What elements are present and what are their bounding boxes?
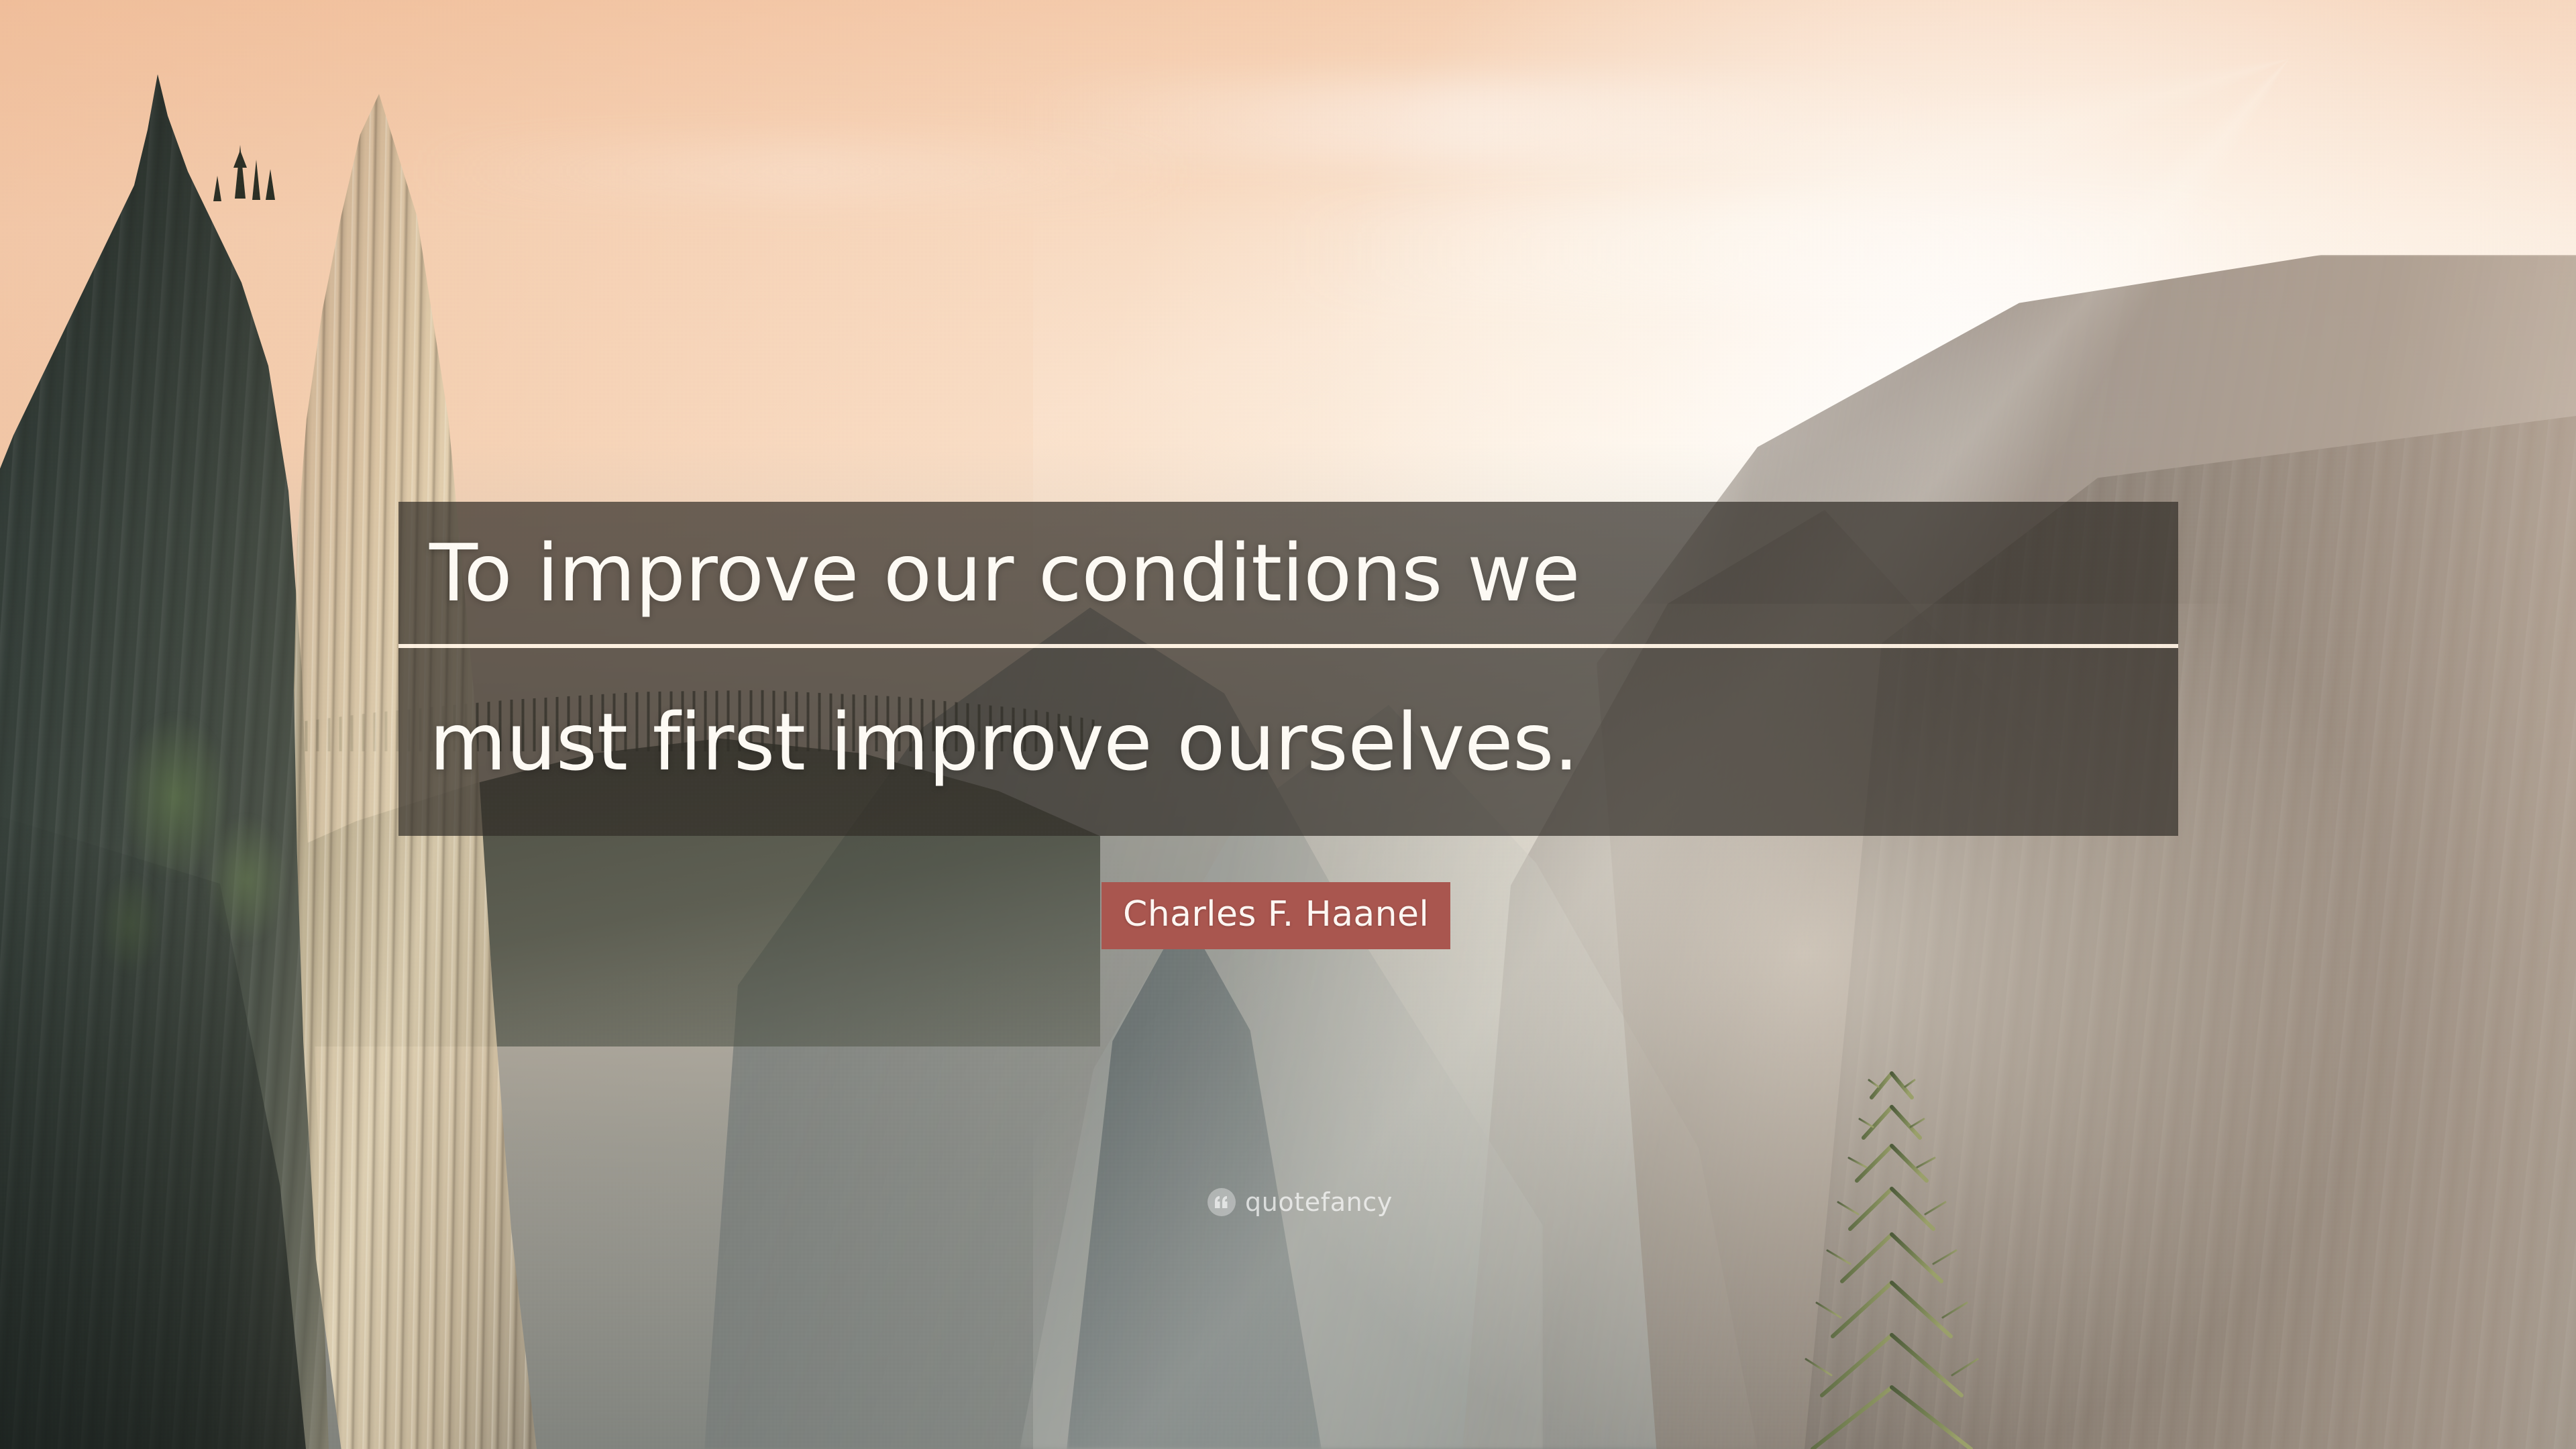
cloud-wisp: [402, 141, 1207, 201]
quote-overlay: To improve our conditions we must first …: [398, 502, 2178, 836]
author-badge: Charles F. Haanel: [1102, 882, 1450, 949]
fir-tree: [1778, 1033, 2006, 1449]
quotefancy-brand: quotefancy: [1245, 1187, 1393, 1217]
quote-mark-icon: [1207, 1188, 1236, 1216]
summit-pine-trees: [134, 80, 376, 201]
quotefancy-watermark: quotefancy: [1207, 1187, 1393, 1217]
quote-line-1: To improve our conditions we: [398, 502, 2178, 644]
quote-line-2: must first improve ourselves.: [398, 648, 2178, 836]
quote-wallpaper: To improve our conditions we must first …: [0, 0, 2576, 1449]
